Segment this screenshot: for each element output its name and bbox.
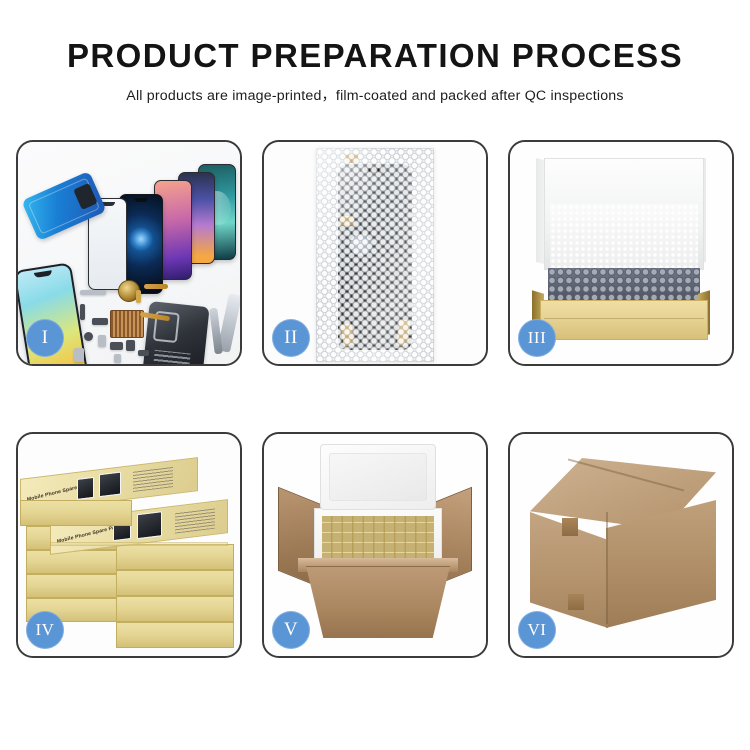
process-step-card-4[interactable]: Mobile Phone Spare Parts Mobile Phone Sp… xyxy=(16,432,242,658)
box-artwork-screen-b xyxy=(137,511,162,539)
step-badge-1: I xyxy=(26,319,64,357)
stacked-box-front-2 xyxy=(116,596,234,622)
carton-body xyxy=(306,566,450,638)
stacked-box-front-3 xyxy=(116,570,234,596)
part-gold-1 xyxy=(136,290,141,303)
stack-shadow-line xyxy=(50,542,228,546)
process-step-card-2[interactable]: II xyxy=(262,140,488,366)
part-round-1 xyxy=(84,332,93,341)
part-strip-6 xyxy=(126,340,135,351)
process-step-card-3[interactable]: III xyxy=(508,140,734,366)
step-badge-6: VI xyxy=(518,611,556,649)
part-strip-4 xyxy=(98,335,106,347)
part-strip-2 xyxy=(80,304,85,320)
step-badge-4: IV xyxy=(26,611,64,649)
process-steps-grid: I II xyxy=(16,140,734,692)
kraft-box-front xyxy=(540,300,708,340)
header: PRODUCT PREPARATION PROCESS All products… xyxy=(0,0,750,105)
chip-grid-icon xyxy=(110,310,144,338)
part-strip-9 xyxy=(74,348,84,362)
process-step-card-5[interactable]: V xyxy=(262,432,488,658)
page-title: PRODUCT PREPARATION PROCESS xyxy=(0,38,750,75)
box-spec-lines-front xyxy=(175,507,215,534)
stacked-box-rear-side xyxy=(20,500,132,526)
page-subtitle: All products are image-printed，film-coat… xyxy=(0,85,750,105)
box-artwork-screen-d xyxy=(99,472,121,498)
carton-tape-upper xyxy=(562,518,578,536)
step-badge-2: II xyxy=(272,319,310,357)
foam-sheet xyxy=(550,204,698,272)
part-strip-5 xyxy=(110,342,123,350)
box-spec-lines-rear xyxy=(133,466,173,492)
flex-cable-1 xyxy=(144,284,168,289)
part-strip-7 xyxy=(114,354,121,363)
stacked-box-front-4 xyxy=(116,544,234,570)
part-strip-3 xyxy=(92,318,108,325)
stacked-box-front-1 xyxy=(116,622,234,648)
product-preparation-infographic: PRODUCT PREPARATION PROCESS All products… xyxy=(0,0,750,750)
box-artwork-screen-c xyxy=(77,477,94,500)
part-strip-8 xyxy=(138,350,149,356)
phone-back-housing-icon xyxy=(142,301,209,364)
process-step-card-6[interactable]: VI xyxy=(508,432,734,658)
styrofoam-cooler-lid xyxy=(320,444,436,510)
bubble-sheet-contents xyxy=(548,268,700,302)
step-badge-3: III xyxy=(518,319,556,357)
box-crease-line xyxy=(544,318,704,319)
bubble-wrap-package xyxy=(316,148,434,362)
plastic-sheen xyxy=(316,148,434,362)
carton-tape-lower xyxy=(568,594,584,610)
step-badge-5: V xyxy=(272,611,310,649)
process-step-card-1[interactable]: I xyxy=(16,140,242,366)
carton-corner-seam xyxy=(606,512,608,624)
part-strip-1 xyxy=(80,290,106,295)
